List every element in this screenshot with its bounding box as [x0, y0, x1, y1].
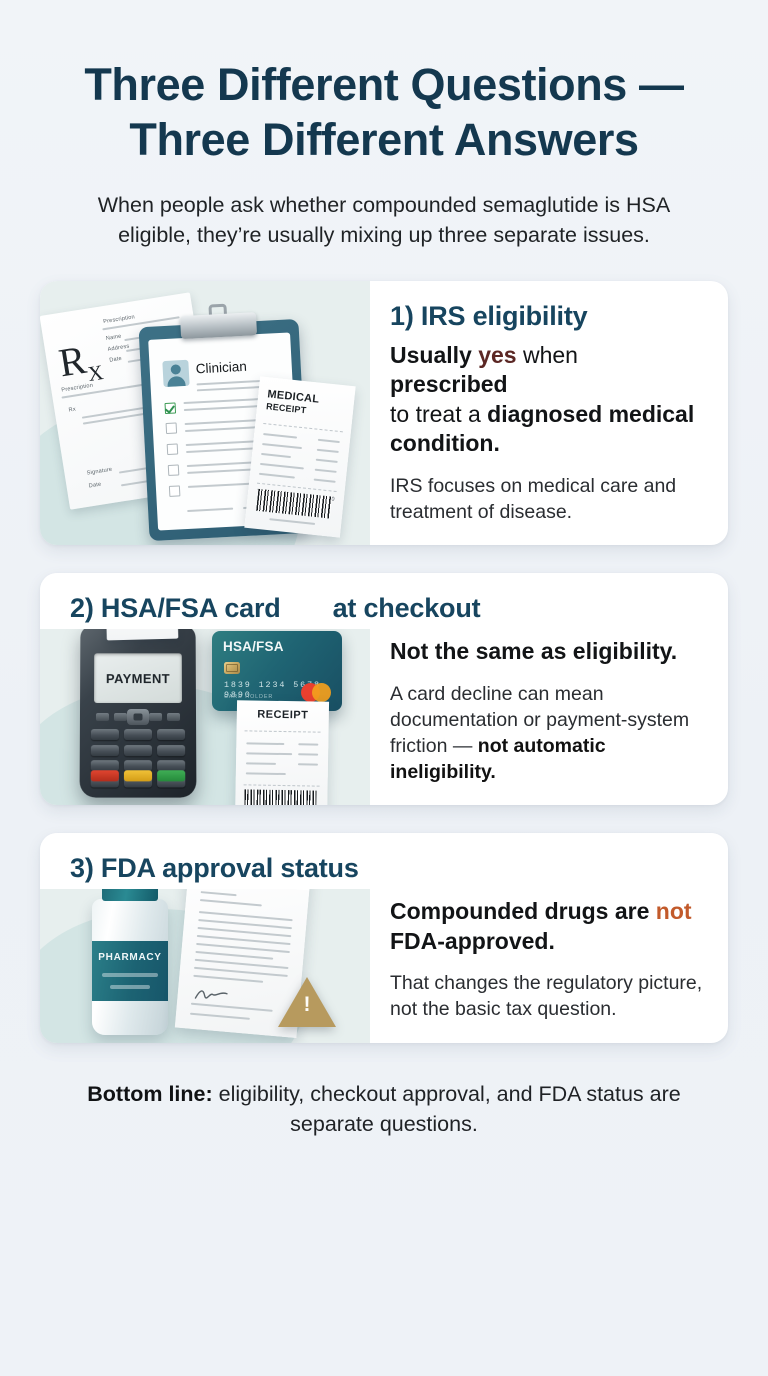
- rx-label-signature: Signature: [86, 466, 112, 476]
- bottom-line-label: Bottom line:: [87, 1082, 212, 1106]
- warning-glyph: !: [278, 994, 336, 1015]
- terminal-screen: PAYMENT: [94, 654, 182, 704]
- checkout-receipt: RECEIPT: [235, 700, 329, 805]
- mastercard-icon: [301, 683, 331, 702]
- card-body: 1) IRS eligibility Usually yes whenpresc…: [370, 281, 728, 545]
- card-hsa-fsa-card: 2) HSA/FSA card at checkout RECEIPT: [40, 573, 728, 805]
- card-lead-hsa: Not the same as eligibility.: [390, 637, 704, 666]
- checkbox: [166, 422, 178, 434]
- card-heading-fda: 3) FDA approval status: [70, 853, 359, 883]
- vial-label-text: PHARMACY: [92, 952, 168, 963]
- card-holder-name: CARD HOLDER: [224, 694, 273, 700]
- title-line-2: Three Different Answers: [129, 114, 638, 165]
- bottom-line: Bottom line: eligibility, checkout appro…: [0, 1071, 768, 1140]
- card-heading-irs: 1) IRS eligibility: [390, 301, 704, 331]
- barcode: [256, 489, 332, 519]
- rx-label-date-bottom: Date: [88, 481, 101, 489]
- pharmacy-vial: PHARMACY: [88, 877, 172, 1037]
- clinician-label: Clinician: [195, 359, 247, 377]
- illustration-prescription: RX Prescription Name Address Date Prescr…: [40, 281, 370, 545]
- checkbox: [169, 485, 181, 497]
- rx-label-name: Name: [106, 333, 122, 341]
- bottom-line-text: eligibility, checkout approval, and FDA …: [213, 1082, 681, 1137]
- warning-icon: !: [278, 977, 336, 1029]
- key-enter: [157, 771, 185, 782]
- card-fda-approval-status: 3) FDA approval status PHARMACY: [40, 833, 728, 1042]
- title-line-1: Three Different Questions —: [84, 59, 683, 110]
- card-irs-eligibility: RX Prescription Name Address Date Prescr…: [40, 281, 728, 545]
- card3-heading-row: 3) FDA approval status: [40, 833, 728, 889]
- rx-label-date: Date: [109, 356, 122, 364]
- person-icon: [162, 360, 189, 387]
- card-note-fda: That changes the regulatory picture, not…: [390, 970, 704, 1022]
- checkout-receipt-title: RECEIPT: [237, 708, 329, 722]
- card-note-irs: IRS focuses on medical care and treatmen…: [390, 473, 704, 525]
- card3-split: PHARMACY COMPLIANCE: [40, 889, 728, 1042]
- checkbox: [167, 443, 179, 455]
- clipboard-clamp: [180, 312, 257, 339]
- barcode: [244, 790, 316, 806]
- terminal-navpad: [127, 709, 149, 725]
- card-note-hsa: A card decline can mean documentation or…: [390, 681, 704, 786]
- card-body: Not the same as eligibility. A card decl…: [370, 629, 728, 805]
- checkbox-checked: [165, 402, 177, 414]
- page-title: Three Different Questions — Three Differ…: [42, 58, 726, 168]
- card2-split: RECEIPT PAYMENT: [40, 629, 728, 805]
- vial-label: PHARMACY: [92, 941, 168, 1001]
- terminal-side-key: [149, 713, 162, 721]
- infographic-page: Three Different Questions — Three Differ…: [0, 0, 768, 1376]
- hsa-fsa-card: HSA/FSA 1839 1234 5678 9890 CARD HOLDER: [212, 631, 342, 711]
- pos-terminal: RECEIPT PAYMENT: [80, 626, 197, 798]
- card-brand-label: HSA/FSA: [223, 639, 284, 654]
- cards-container: RX Prescription Name Address Date Prescr…: [0, 281, 768, 1043]
- accent-not: not: [656, 898, 692, 924]
- signature: [193, 985, 228, 1002]
- page-subtitle: When people ask whether compounded semag…: [64, 190, 704, 251]
- checkbox: [168, 464, 180, 476]
- card-lead-irs: Usually yes whenprescribedto treat a dia…: [390, 341, 704, 459]
- terminal-side-key: [167, 713, 180, 721]
- terminal-function-keys: [91, 771, 186, 782]
- header: Three Different Questions — Three Differ…: [0, 0, 768, 251]
- card2-heading-row: 2) HSA/FSA card at checkout: [40, 573, 728, 629]
- card-lead-fda: Compounded drugs are not FDA-approved.: [390, 897, 704, 956]
- accent-yes: yes: [478, 342, 516, 368]
- medical-receipt-title: MEDICAL RECEIPT: [266, 388, 320, 416]
- card-body: Compounded drugs are not FDA-approved. T…: [370, 889, 728, 1042]
- chip-icon: [224, 662, 240, 674]
- key-cancel: [91, 771, 119, 782]
- rx-symbol: RX: [56, 337, 105, 389]
- terminal-screen-label: PAYMENT: [106, 671, 170, 686]
- key-clear: [124, 771, 152, 782]
- medical-receipt: MEDICAL RECEIPT: [244, 376, 355, 537]
- terminal-side-key: [114, 713, 127, 721]
- card-heading-at-checkout: at checkout: [333, 593, 481, 623]
- rx-label-rx-mid: Rx: [68, 406, 76, 413]
- card-heading-hsa-fsa: 2) HSA/FSA card: [70, 593, 281, 623]
- terminal-side-key: [96, 713, 109, 721]
